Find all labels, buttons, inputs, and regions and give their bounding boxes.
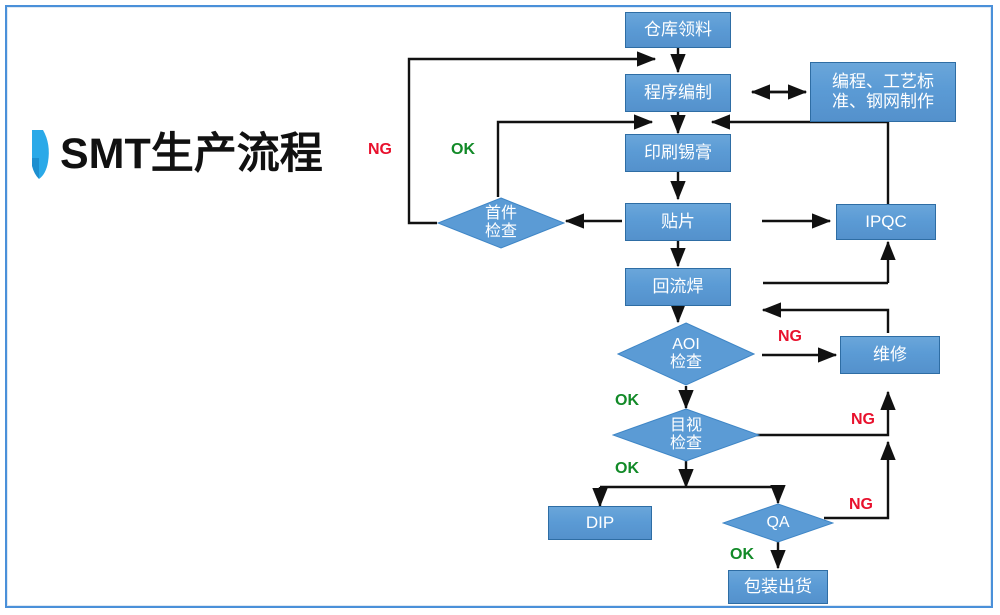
edge-label-aoi-ng: NG [778, 328, 802, 346]
node-programming-process-standards-line2: 准、钢网制作 [832, 92, 934, 112]
node-program-preparation-label: 程序编制 [644, 83, 712, 103]
node-warehouse-picking[interactable]: 仓库领料 [625, 12, 731, 48]
node-packing-shipment[interactable]: 包装出货 [728, 570, 828, 604]
node-dip-label: DIP [586, 513, 614, 533]
node-solder-paste-printing-label: 印刷锡膏 [644, 143, 712, 163]
node-programming-process-standards-line1: 编程、工艺标 [832, 72, 934, 92]
node-program-preparation[interactable]: 程序编制 [625, 74, 731, 112]
edge-label-qa-ng: NG [849, 496, 873, 514]
node-solder-paste-printing[interactable]: 印刷锡膏 [625, 134, 731, 172]
node-packing-shipment-label: 包装出货 [744, 577, 812, 597]
node-dip[interactable]: DIP [548, 506, 652, 540]
edge-label-visual-ok: OK [615, 460, 639, 478]
node-smt-placement-label: 贴片 [661, 212, 695, 232]
node-ipqc-label: IPQC [865, 212, 907, 232]
node-smt-placement[interactable]: 贴片 [625, 203, 731, 241]
node-repair-label: 维修 [873, 345, 907, 365]
logo-mark-icon [30, 128, 52, 180]
edge-label-qa-ok: OK [730, 546, 754, 564]
node-qa-inspection[interactable]: QA [722, 503, 834, 543]
node-programming-process-standards[interactable]: 编程、工艺标 准、钢网制作 [810, 62, 956, 122]
edge-label-visual-ng: NG [851, 411, 875, 429]
edge-label-aoi-ok: OK [615, 392, 639, 410]
node-reflow-soldering-label: 回流焊 [653, 277, 704, 297]
edge-label-first-article-ng: NG [368, 141, 392, 159]
node-repair[interactable]: 维修 [840, 336, 940, 374]
page-title: SMT生产流程 [30, 128, 323, 180]
edge-label-first-article-ok: OK [451, 141, 475, 159]
node-warehouse-picking-label: 仓库领料 [644, 20, 712, 40]
node-first-article-inspection[interactable]: 首件 检查 [437, 197, 565, 249]
node-aoi-inspection[interactable]: AOI 检查 [617, 322, 755, 386]
node-ipqc[interactable]: IPQC [836, 204, 936, 240]
page-title-text: SMT生产流程 [60, 133, 323, 176]
node-reflow-soldering[interactable]: 回流焊 [625, 268, 731, 306]
flowchart-page: SMT生产流程 [0, 0, 1000, 615]
node-visual-inspection[interactable]: 目视 检查 [612, 408, 760, 462]
